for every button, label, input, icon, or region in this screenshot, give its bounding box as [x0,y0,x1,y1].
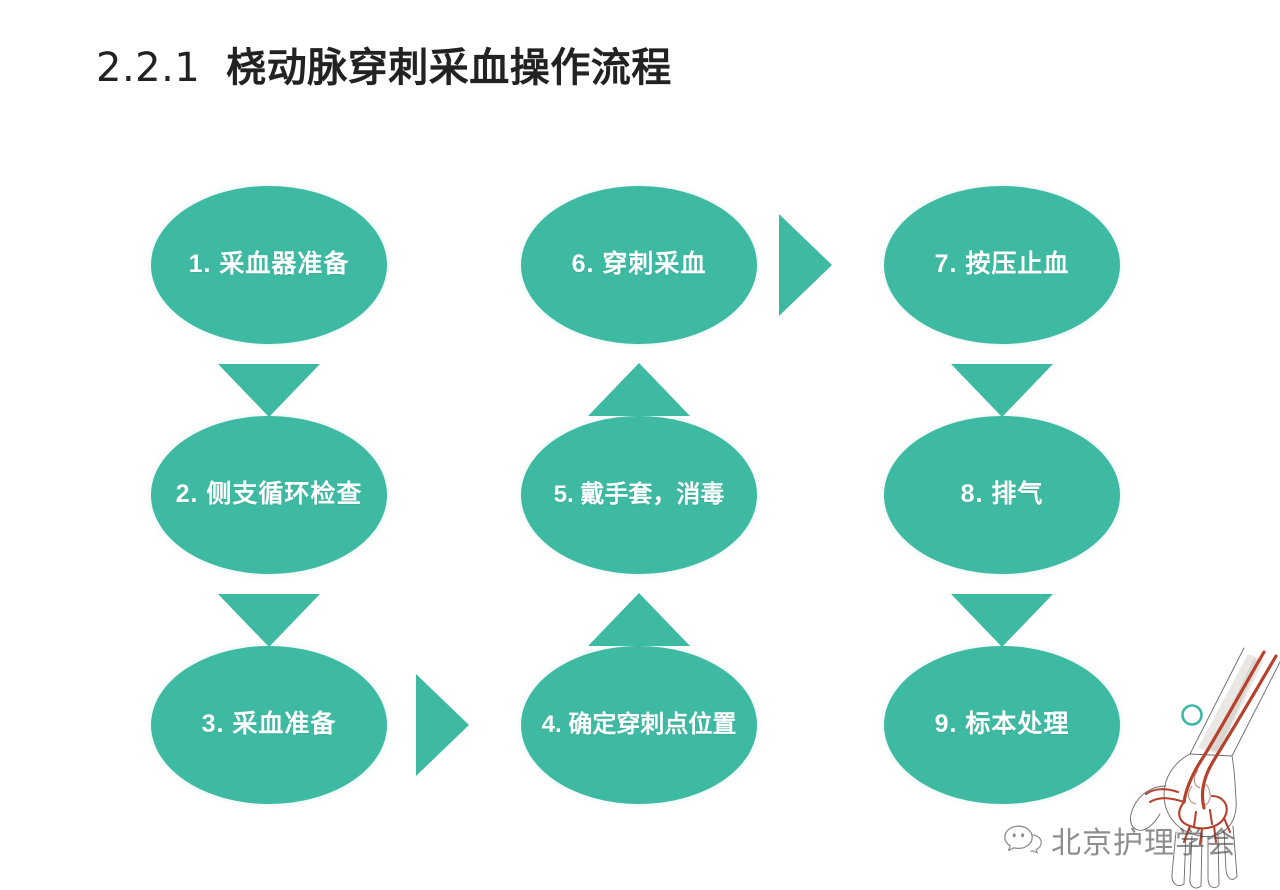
flow-node-6-label: 6. 穿刺采血 [562,249,717,280]
flow-node-4-label: 4. 确定穿刺点位置 [532,710,747,740]
arrow-down-node1-to-node2 [218,364,320,417]
flow-node-3-label: 3. 采血准备 [192,709,347,740]
flow-node-6[interactable]: 6. 穿刺采血 [521,186,757,344]
flow-node-5-label: 5. 戴手套，消毒 [544,480,735,510]
arrow-down-node2-to-node3 [218,594,320,647]
arrow-right-node6-to-node7 [779,214,832,316]
flow-node-2-label: 2. 侧支循环检查 [166,479,373,510]
flow-node-9[interactable]: 9. 标本处理 [884,646,1120,804]
arrow-down-node7-to-node8 [951,364,1053,417]
flow-node-8[interactable]: 8. 排气 [884,416,1120,574]
flow-node-3[interactable]: 3. 采血准备 [151,646,387,804]
flow-node-5[interactable]: 5. 戴手套，消毒 [521,416,757,574]
flow-node-1-label: 1. 采血器准备 [179,249,360,280]
flow-node-9-label: 9. 标本处理 [925,709,1080,740]
flow-node-7-label: 7. 按压止血 [925,249,1080,280]
flow-node-1[interactable]: 1. 采血器准备 [151,186,387,344]
wechat-icon [1003,823,1043,857]
arrow-right-node3-to-node4 [416,674,469,776]
flow-node-4[interactable]: 4. 确定穿刺点位置 [521,646,757,804]
page-title: 2.2.1桡动脉穿刺采血操作流程 [96,44,672,92]
flow-node-7[interactable]: 7. 按压止血 [884,186,1120,344]
watermark-text: 北京护理学会 [1051,818,1237,862]
flow-node-2[interactable]: 2. 侧支循环检查 [151,416,387,574]
arrow-up-node4-to-node5 [588,593,690,646]
flow-node-8-label: 8. 排气 [951,479,1054,510]
arrow-up-node5-to-node6 [588,363,690,416]
arrow-down-node8-to-node9 [951,594,1053,647]
puncture-site-marker [1183,706,1202,725]
watermark: 北京护理学会 [1003,818,1237,862]
slide-canvas: 2.2.1桡动脉穿刺采血操作流程 1. 采血器准备 2. 侧支循环检查 3. 采… [0,0,1280,890]
page-title-text: 桡动脉穿刺采血操作流程 [226,46,672,90]
page-title-number: 2.2.1 [96,45,200,91]
